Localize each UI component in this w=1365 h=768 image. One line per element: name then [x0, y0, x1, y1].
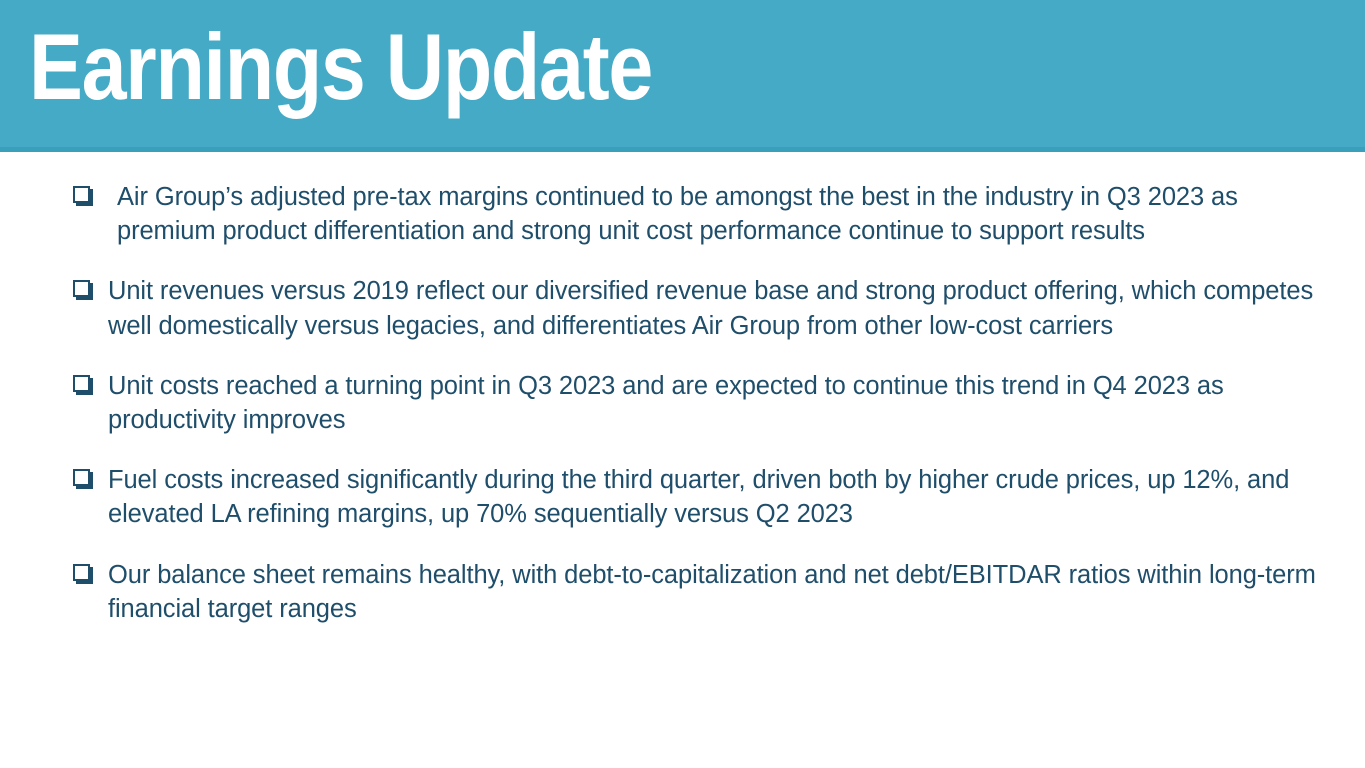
slide-body: Air Group’s adjusted pre-tax margins con…	[0, 152, 1365, 768]
list-item: Air Group’s adjusted pre-tax margins con…	[72, 180, 1325, 248]
title-banner: Earnings Update	[0, 0, 1365, 147]
list-item: Unit costs reached a turning point in Q3…	[72, 369, 1325, 437]
open-square-bullet-icon	[72, 371, 94, 393]
presentation-slide: Earnings Update Air Group’s adjusted pre…	[0, 0, 1365, 768]
open-square-bullet-icon	[72, 276, 94, 298]
list-item-text: Unit costs reached a turning point in Q3…	[108, 369, 1325, 437]
open-square-bullet-icon	[72, 182, 94, 204]
open-square-bullet-icon	[72, 560, 94, 582]
page-title: Earnings Update	[29, 13, 652, 121]
list-item: Fuel costs increased significantly durin…	[72, 463, 1325, 531]
list-item-text: Unit revenues versus 2019 reflect our di…	[108, 274, 1325, 342]
list-item: Unit revenues versus 2019 reflect our di…	[72, 274, 1325, 342]
list-item-text: Air Group’s adjusted pre-tax margins con…	[117, 180, 1325, 248]
list-item-text: Our balance sheet remains healthy, with …	[108, 558, 1325, 626]
list-item: Our balance sheet remains healthy, with …	[72, 558, 1325, 626]
list-item-text: Fuel costs increased significantly durin…	[108, 463, 1325, 531]
bullet-list: Air Group’s adjusted pre-tax margins con…	[72, 180, 1325, 626]
open-square-bullet-icon	[72, 465, 94, 487]
